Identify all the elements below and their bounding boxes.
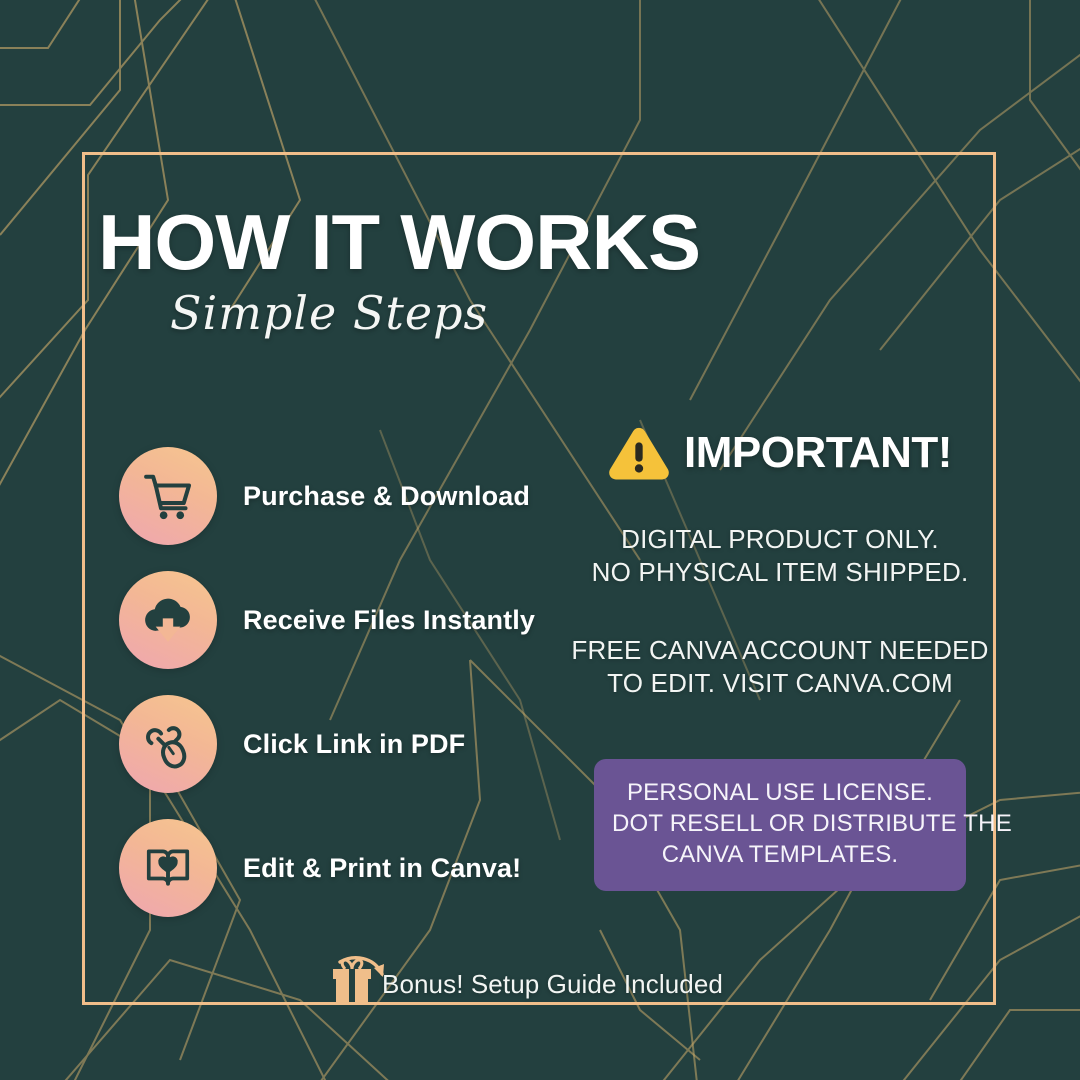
cloud-download-icon	[119, 571, 217, 669]
step-item-click-link: Click Link in PDF	[119, 683, 579, 805]
step-item-edit-print: Edit & Print in Canva!	[119, 807, 579, 929]
license-line: DOT RESELL OR DISTRIBUTE THE	[612, 808, 948, 839]
steps-list: Purchase & Download Receive Files Instan…	[119, 435, 579, 931]
step-item-purchase-download: Purchase & Download	[119, 435, 579, 557]
warning-triangle-icon	[608, 425, 670, 481]
title-block: HOW IT WORKS Simple Steps	[98, 205, 688, 340]
curved-arrow-icon	[336, 954, 392, 988]
notice-line: FREE CANVA ACCOUNT NEEDED	[560, 634, 1000, 667]
step-label: Edit & Print in Canva!	[243, 853, 521, 884]
shopping-cart-icon	[119, 447, 217, 545]
notice-line: NO PHYSICAL ITEM SHIPPED.	[560, 556, 1000, 589]
step-label: Click Link in PDF	[243, 729, 465, 760]
notice-paragraph-canva-account: FREE CANVA ACCOUNT NEEDED TO EDIT. VISIT…	[560, 634, 1000, 699]
step-label: Receive Files Instantly	[243, 605, 535, 636]
license-text: PERSONAL USE LICENSE. DOT RESELL OR DIST…	[612, 777, 948, 871]
notice-line: DIGITAL PRODUCT ONLY.	[560, 523, 1000, 556]
step-label: Purchase & Download	[243, 481, 530, 512]
license-line: CANVA TEMPLATES.	[612, 839, 948, 870]
book-heart-icon	[119, 819, 217, 917]
step-item-receive-files: Receive Files Instantly	[119, 559, 579, 681]
notice-paragraph-digital-product: DIGITAL PRODUCT ONLY. NO PHYSICAL ITEM S…	[560, 523, 1000, 588]
important-notice-panel: IMPORTANT! DIGITAL PRODUCT ONLY. NO PHYS…	[560, 425, 1000, 891]
bonus-label: Bonus! Setup Guide Included	[382, 969, 723, 1004]
page-title: HOW IT WORKS	[98, 205, 700, 280]
license-line: PERSONAL USE LICENSE.	[612, 777, 948, 808]
important-heading-row: IMPORTANT!	[560, 425, 1000, 481]
bonus-strip: Bonus! Setup Guide Included	[330, 958, 723, 1004]
notice-line: TO EDIT. VISIT CANVA.COM	[560, 667, 1000, 700]
important-heading: IMPORTANT!	[684, 428, 952, 478]
page-subtitle: Simple Steps	[170, 286, 688, 340]
license-badge: PERSONAL USE LICENSE. DOT RESELL OR DIST…	[594, 759, 966, 891]
link-mouse-click-icon	[119, 695, 217, 793]
